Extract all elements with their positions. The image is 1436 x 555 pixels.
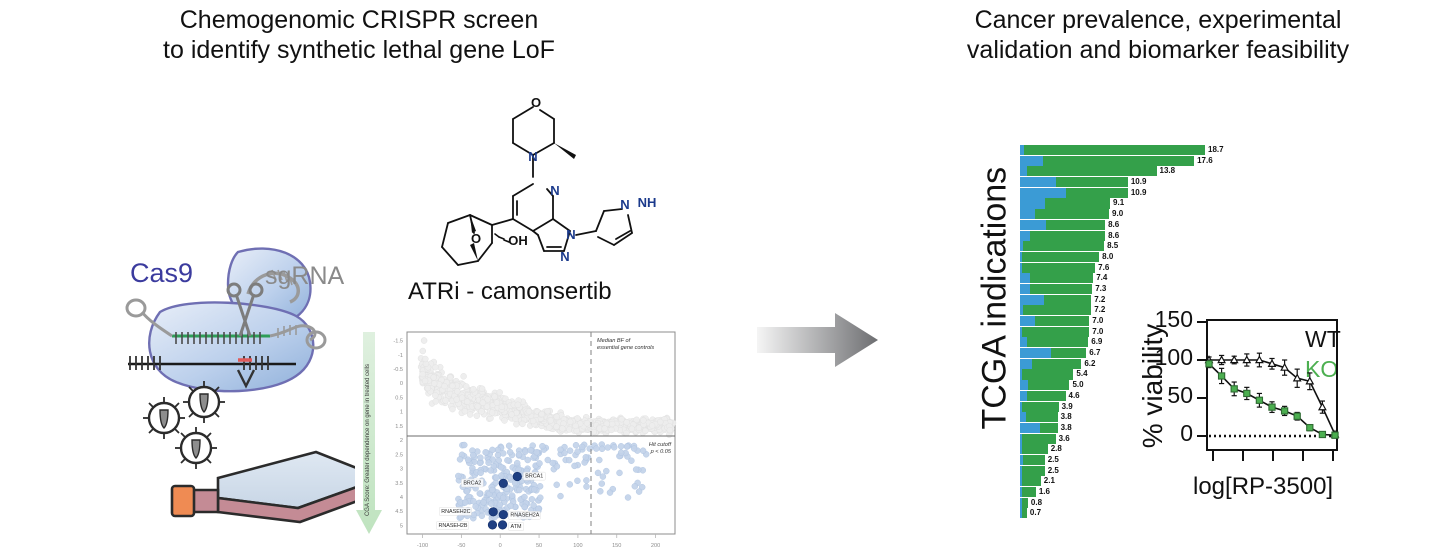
scatter-x-tick: 100: [573, 543, 582, 549]
bar-segment-green: [1022, 444, 1048, 454]
scatter-y-tick: 0.5: [395, 395, 403, 401]
bar-segment-green: [1022, 508, 1027, 518]
bar-row: 17.6: [1020, 156, 1265, 166]
bar-segment-green: [1066, 188, 1127, 198]
lentivirus-particles: [143, 381, 225, 469]
bar-value-label: 7.6: [1098, 262, 1109, 273]
scatter-y-tick: 4.5: [395, 509, 403, 515]
dose-marker-ko: [1231, 386, 1237, 392]
scatter-x-tick: -100: [417, 543, 428, 549]
bar-value-label: 2.5: [1048, 465, 1059, 476]
bar-value-label: 7.2: [1094, 304, 1105, 315]
bar-segment-blue: [1020, 295, 1044, 305]
bar-value-label: 7.4: [1096, 272, 1107, 283]
scatter-y-tick: 2: [400, 438, 403, 444]
scatter-y-tick: 0: [400, 381, 403, 387]
bar-segment-blue: [1020, 188, 1066, 198]
bar-value-label: 8.0: [1102, 251, 1113, 262]
bar-segment-green: [1023, 305, 1091, 315]
bar-value-label: 9.0: [1112, 208, 1123, 219]
scatter-y-tick: 5: [400, 523, 403, 529]
bar-segment-green: [1022, 434, 1055, 444]
scatter-gene-point: [498, 521, 507, 530]
culture-flask-icon: [172, 452, 382, 522]
bar-row: 7.3: [1020, 284, 1265, 294]
bar-value-label: 0.8: [1031, 497, 1042, 508]
bar-segment-green: [1056, 177, 1128, 187]
dose-marker-ko: [1332, 432, 1338, 438]
bar-segment-green: [1027, 337, 1088, 347]
bar-segment-green: [1030, 231, 1105, 241]
dose-marker-wt: [1319, 404, 1326, 410]
cas9-label: Cas9: [130, 258, 193, 289]
hit-cutoff-annotation: Hit cutoff: [649, 442, 673, 448]
bar-value-label: 2.1: [1044, 475, 1055, 486]
dose-marker-ko: [1206, 361, 1212, 367]
bar-segment-blue: [1020, 209, 1035, 219]
bar-segment-green: [1026, 412, 1057, 422]
bar-value-label: 6.2: [1084, 358, 1095, 369]
bar-segment-green: [1022, 402, 1058, 412]
scatter-y-tick: -1.5: [393, 339, 403, 345]
bar-segment-blue: [1020, 316, 1035, 326]
scatter-y-tick: 3.5: [395, 481, 403, 487]
scatter-gene-label: ATM: [511, 524, 522, 530]
scatter-y-tick: -0.5: [393, 367, 403, 373]
svg-text:N: N: [566, 227, 575, 242]
bar-value-label: 7.2: [1094, 294, 1105, 305]
dose-marker-wt: [1231, 356, 1238, 362]
bar-row: 9.0: [1020, 209, 1265, 219]
dose-curve-wt: [1209, 360, 1335, 435]
bar-segment-green: [1023, 455, 1044, 465]
bar-row: 8.6: [1020, 220, 1265, 230]
dose-marker-wt: [1243, 356, 1250, 362]
bar-segment-green: [1030, 273, 1094, 283]
dose-marker-wt: [1306, 378, 1313, 384]
bar-segment-green: [1024, 145, 1205, 155]
bar-segment-green: [1043, 156, 1194, 166]
bar-segment-green: [1028, 380, 1069, 390]
scatter-x-tick: 200: [651, 543, 660, 549]
svg-text:N: N: [620, 197, 629, 212]
bar-value-label: 3.9: [1062, 401, 1073, 412]
bar-value-label: 1.6: [1039, 486, 1050, 497]
bar-row: 8.0: [1020, 252, 1265, 262]
svg-text:p < 0.05: p < 0.05: [650, 449, 672, 455]
bar-segment-blue: [1020, 231, 1030, 241]
bar-segment-green: [1022, 476, 1041, 486]
bar-segment-green: [1045, 198, 1110, 208]
bar-segment-blue: [1020, 220, 1046, 230]
bar-value-label: 5.4: [1076, 368, 1087, 379]
compound-name-label: ATRi - camonsertib: [408, 278, 612, 306]
bar-segment-green: [1046, 220, 1105, 230]
scatter-gene-point: [513, 472, 522, 481]
svg-text:essential gene controls: essential gene controls: [597, 345, 654, 351]
right-panel-heading: Cancer prevalence, experimental validati…: [880, 5, 1436, 65]
dose-marker-ko: [1269, 404, 1275, 410]
bar-row: 7.6: [1020, 263, 1265, 273]
bar-segment-green: [1022, 327, 1089, 337]
bar-value-label: 17.6: [1197, 155, 1213, 166]
bar-row: 0.7: [1020, 508, 1265, 518]
svg-text:N: N: [550, 183, 559, 198]
bar-row: 10.9: [1020, 188, 1265, 198]
bar-segment-blue: [1020, 177, 1056, 187]
bar-segment-green: [1051, 348, 1086, 358]
tcga-axis-label: TCGA indications: [976, 180, 1015, 430]
dose-response-inset: % viability log[RP-3500] WT KO 050100150: [1125, 308, 1425, 508]
bar-value-label: 7.3: [1095, 283, 1106, 294]
bar-segment-blue: [1020, 359, 1032, 369]
dose-marker-wt: [1218, 356, 1225, 362]
scatter-gene-label: BRCA2: [463, 480, 481, 486]
bar-segment-green: [1022, 369, 1073, 379]
bar-segment-blue: [1020, 166, 1027, 176]
bar-row: 8.5: [1020, 241, 1265, 251]
bar-value-label: 9.1: [1113, 197, 1124, 208]
bar-segment-green: [1030, 284, 1092, 294]
bar-segment-green: [1032, 359, 1082, 369]
bar-row: 10.9: [1020, 177, 1265, 187]
bar-row: 7.4: [1020, 273, 1265, 283]
bar-value-label: 8.5: [1107, 240, 1118, 251]
dose-marker-ko: [1319, 431, 1325, 437]
svg-text:O: O: [531, 95, 541, 110]
dose-marker-wt: [1269, 360, 1276, 366]
bar-value-label: 5.0: [1072, 379, 1083, 390]
bar-segment-green: [1035, 316, 1089, 326]
scatter-y-tick: 4: [400, 495, 403, 501]
bar-row: 13.8: [1020, 166, 1265, 176]
dose-marker-ko: [1219, 373, 1225, 379]
scatter-x-tick: 50: [536, 543, 542, 549]
scatter-gene-point: [489, 508, 498, 517]
svg-text:N: N: [528, 149, 537, 164]
bar-segment-green: [1027, 391, 1065, 401]
scatter-x-tick: 150: [612, 543, 621, 549]
bar-segment-blue: [1020, 337, 1027, 347]
bar-value-label: 18.7: [1208, 144, 1224, 155]
process-flow-arrow: [755, 305, 880, 375]
left-panel-heading: Chemogenomic CRISPR screen to identify s…: [0, 5, 718, 65]
scatter-y-tick: 3: [400, 467, 403, 473]
bar-segment-green: [1022, 498, 1028, 508]
dose-marker-wt: [1256, 356, 1263, 362]
bar-value-label: 6.9: [1091, 336, 1102, 347]
scatter-y-tick: 2.5: [395, 452, 403, 458]
dose-marker-ko: [1256, 397, 1262, 403]
scatter-x-tick: 0: [499, 543, 502, 549]
median-bf-annotation: Median BF of: [597, 338, 632, 344]
bar-segment-blue: [1020, 198, 1045, 208]
camonsertib-structure: O N N N N N NH O OH: [400, 85, 670, 285]
bar-value-label: 6.7: [1089, 347, 1100, 358]
sgrna-label: sgRNA: [265, 262, 344, 291]
bar-segment-blue: [1020, 284, 1030, 294]
bar-row: 9.1: [1020, 198, 1265, 208]
bar-value-label: 4.6: [1069, 390, 1080, 401]
dose-marker-ko: [1282, 408, 1288, 414]
bar-segment-green: [1022, 263, 1095, 273]
bar-segment-green: [1027, 166, 1157, 176]
bar-segment-blue: [1020, 391, 1027, 401]
bar-value-label: 8.6: [1108, 219, 1119, 230]
bar-segment-green: [1023, 241, 1104, 251]
scatter-y-tick: -1: [398, 353, 403, 359]
scatter-y-tick: 1: [400, 410, 403, 416]
bar-segment-blue: [1020, 423, 1040, 433]
bar-value-label: 10.9: [1131, 187, 1147, 198]
bar-value-label: 7.0: [1092, 326, 1103, 337]
bar-segment-blue: [1020, 273, 1030, 283]
bar-segment-blue: [1020, 348, 1051, 358]
scatter-gene-label: BRCA1: [525, 474, 543, 480]
bar-value-label: 0.7: [1030, 507, 1041, 518]
bar-segment-green: [1035, 209, 1109, 219]
crispr-cas9-illustration: Cas9 sgRNA: [120, 240, 390, 530]
scatter-x-tick: -50: [457, 543, 465, 549]
dose-curve-ko: [1209, 364, 1335, 435]
svg-text:NH: NH: [638, 195, 657, 210]
bar-value-label: 13.8: [1160, 165, 1176, 176]
bar-value-label: 2.5: [1048, 454, 1059, 465]
scatter-gene-point: [499, 479, 508, 488]
scatter-gene-label: RNASEH2B: [438, 523, 467, 529]
bar-segment-green: [1022, 252, 1099, 262]
scatter-y-tick: 1.5: [395, 424, 403, 430]
bar-value-label: 3.8: [1061, 422, 1072, 433]
dose-marker-ko: [1244, 390, 1250, 396]
dose-marker-wt: [1281, 364, 1288, 370]
scatter-gene-point: [488, 521, 497, 530]
bar-row: 8.6: [1020, 231, 1265, 241]
scatter-gene-label: RNASEH2A: [510, 513, 539, 519]
scatter-gene-label: RNASEH2C: [441, 509, 470, 515]
crispr-screen-scatter-plot: CGA Score: Greater dependence on gene in…: [355, 320, 685, 550]
bar-value-label: 3.8: [1061, 411, 1072, 422]
bar-value-label: 10.9: [1131, 176, 1147, 187]
bar-value-label: 8.6: [1108, 230, 1119, 241]
svg-text:O: O: [471, 231, 481, 246]
dose-marker-ko: [1294, 413, 1300, 419]
bar-row: 7.2: [1020, 295, 1265, 305]
svg-text:OH: OH: [508, 233, 528, 248]
dose-marker-ko: [1307, 425, 1313, 431]
bar-segment-blue: [1020, 380, 1028, 390]
bar-value-label: 3.6: [1059, 433, 1070, 444]
bar-value-label: 2.8: [1051, 443, 1062, 454]
scatter-gene-point: [499, 510, 508, 519]
svg-text:N: N: [560, 249, 569, 264]
bar-row: 18.7: [1020, 145, 1265, 155]
bar-segment-green: [1044, 295, 1091, 305]
bar-segment-green: [1022, 487, 1036, 497]
bar-segment-green: [1040, 423, 1058, 433]
bar-segment-blue: [1020, 156, 1043, 166]
scatter-y-axis-label: CGA Score: Greater dependence on gene in…: [365, 364, 371, 516]
bar-segment-green: [1022, 466, 1045, 476]
bar-value-label: 7.0: [1092, 315, 1103, 326]
